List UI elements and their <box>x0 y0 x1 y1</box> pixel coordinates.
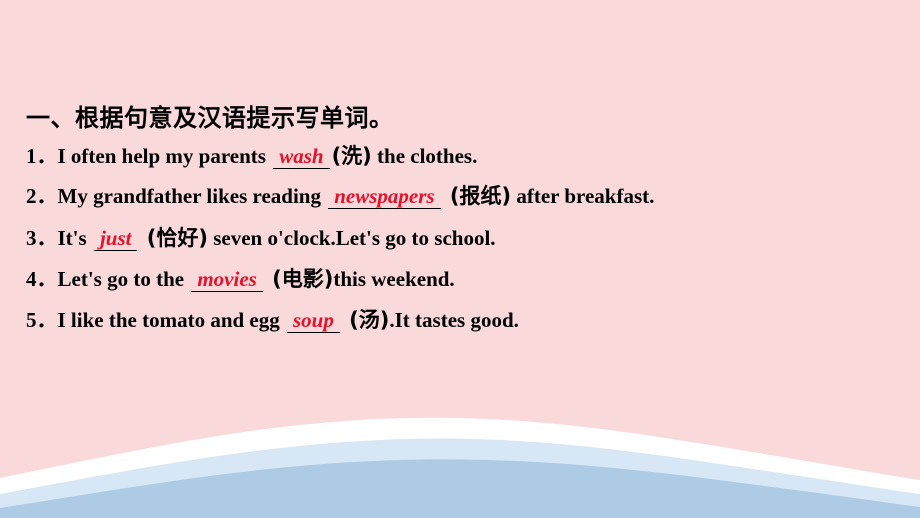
question-item-1: 1．I often help my parents wash(洗) the cl… <box>26 146 477 169</box>
question-item-4: 4．Let's go to the movies (电影)this weeken… <box>26 269 455 292</box>
question-text-before-1: I often help my parents <box>58 144 272 168</box>
slide-canvas: 一、根据句意及汉语提示写单词。 1．I often help my parent… <box>0 0 920 518</box>
question-item-5: 5．I like the tomato and egg soup (汤).It … <box>26 310 519 333</box>
question-number-3: 3． <box>26 228 58 249</box>
question-hint-2: (报纸) <box>443 184 512 208</box>
question-text-before-3: It's <box>58 226 92 250</box>
answer-blank-3[interactable]: just <box>94 228 138 251</box>
question-hint-5: (汤) <box>342 308 390 332</box>
question-number-2: 2． <box>26 186 58 207</box>
question-item-2: 2．My grandfather likes reading newspaper… <box>26 186 654 209</box>
question-text-after-3: seven o'clock.Let's go to school. <box>208 226 496 250</box>
question-number-4: 4． <box>26 269 58 290</box>
question-text-after-4: this weekend. <box>333 267 454 291</box>
question-number-5: 5． <box>26 310 58 331</box>
answer-blank-1[interactable]: wash <box>273 146 329 169</box>
question-hint-4: (电影) <box>265 267 334 291</box>
question-text-before-5: I like the tomato and egg <box>58 308 286 332</box>
question-hint-1: (洗) <box>332 144 372 168</box>
question-text-after-5: .It tastes good. <box>389 308 519 332</box>
answer-blank-4[interactable]: movies <box>191 269 262 292</box>
question-hint-3: (恰好) <box>139 226 208 250</box>
question-text-before-2: My grandfather likes reading <box>58 184 327 208</box>
question-text-before-4: Let's go to the <box>58 267 190 291</box>
question-number-1: 1． <box>26 146 58 167</box>
answer-blank-2[interactable]: newspapers <box>328 186 440 209</box>
answer-blank-5[interactable]: soup <box>287 310 340 333</box>
exercise-content: 一、根据句意及汉语提示写单词。 1．I often help my parent… <box>0 0 920 518</box>
question-text-after-1: the clothes. <box>372 144 478 168</box>
section-heading: 一、根据句意及汉语提示写单词。 <box>26 98 394 133</box>
question-text-after-2: after breakfast. <box>511 184 654 208</box>
question-item-3: 3．It's just (恰好) seven o'clock.Let's go … <box>26 228 496 251</box>
section-heading-text: 一、根据句意及汉语提示写单词。 <box>26 104 394 132</box>
